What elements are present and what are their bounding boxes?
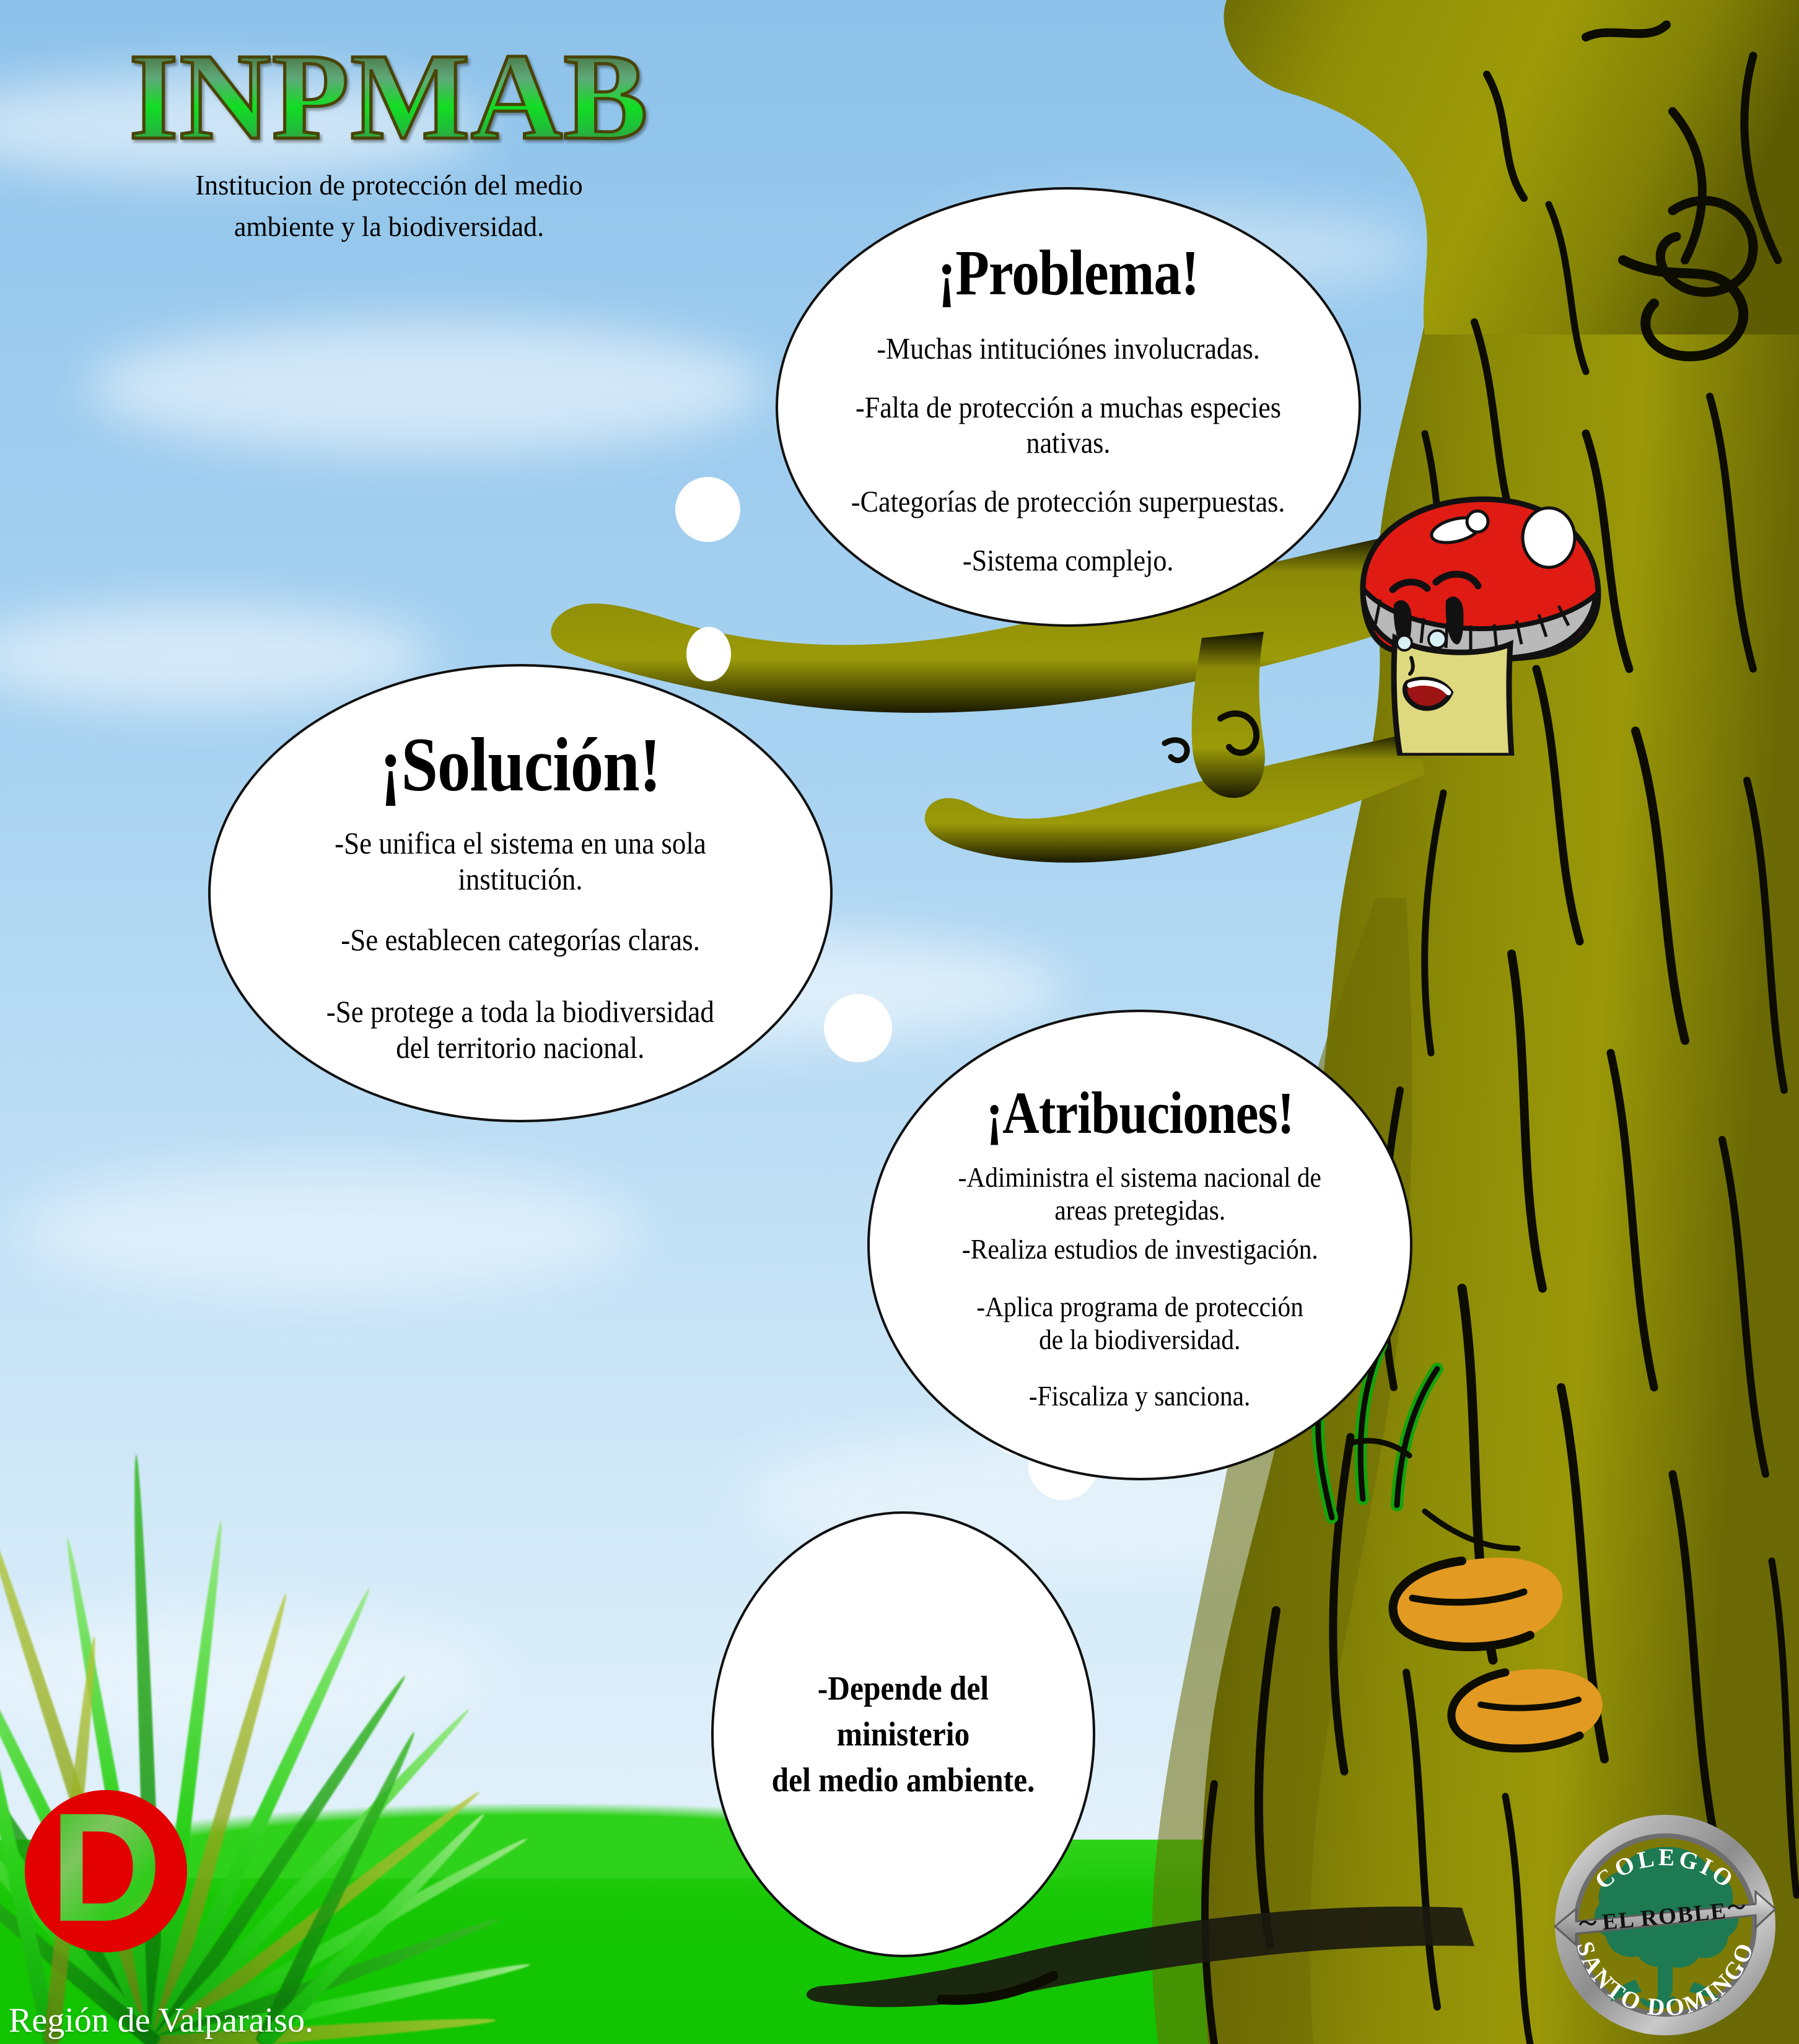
cloud-wisp — [0, 1610, 496, 1734]
seal-banner-flourish-right: 〜 — [1727, 1897, 1747, 1920]
brand-tagline-line2: ambiente y la biodiversidad. — [85, 206, 692, 248]
bubble-atribuciones-line: de la biodiversidad. — [1039, 1323, 1240, 1356]
bubble-problema-line: -Muchas intituciónes involucradas. — [877, 331, 1259, 366]
bubble-problema-heading: ¡Problema! — [938, 236, 1199, 310]
bubble-solucion-line: -Se protege a toda la biodiversidad — [326, 994, 714, 1029]
bubble-solucion-heading: ¡Solución! — [380, 721, 661, 809]
bubble-atribuciones-line: areas pretegidas. — [1054, 1194, 1225, 1226]
brand-tagline-line1: Institucion de protección del medio — [85, 165, 692, 206]
bubble-solucion-line: -Se unifica el sistema en una sola insti… — [278, 825, 764, 897]
brand-header: INPMAB Institucion de protección del med… — [73, 38, 705, 247]
cloud-wisp — [87, 322, 768, 452]
bubble-problema-line: -Sistema complejo. — [963, 543, 1173, 578]
region-badge-letter: D — [50, 1790, 162, 1945]
tree-branch-fork — [1192, 632, 1265, 798]
seal-banner-flourish-left: 〜 — [1578, 1913, 1598, 1936]
bubble-atribuciones-line: -Aplica programa de protección — [976, 1290, 1303, 1323]
region-badge[interactable]: D — [25, 1790, 187, 1952]
bubble-solucion-line: del territorio nacional. — [396, 1029, 644, 1065]
bubble-atribuciones-heading: ¡Atribuciones! — [986, 1078, 1293, 1147]
bubble-problema-line: -Categorías de protección superpuestas. — [851, 484, 1285, 519]
shelf-fungus — [1393, 1558, 1603, 1749]
cloud-wisp — [19, 1164, 638, 1301]
school-seal[interactable]: EL ROBLE 〜 〜 COLEGIO SANTO DOMINGO — [1551, 1811, 1779, 2039]
mushroom-eye-shine — [1397, 635, 1412, 650]
mushroom-character — [1357, 496, 1604, 756]
poster-canvas: ¡Problema! -Muchas intituciónes involucr… — [0, 0, 1799, 2044]
region-label: Región de Valparaiso. — [9, 2001, 313, 2040]
thought-dot — [675, 477, 740, 542]
bubble-atribuciones[interactable]: ¡Atribuciones! -Adiministra el sistema n… — [867, 1010, 1412, 1480]
thought-dot — [824, 994, 892, 1062]
brand-tagline: Institucion de protección del medio ambi… — [85, 165, 692, 247]
bubble-ministerio-line: del medio ambiente. — [772, 1757, 1035, 1803]
thought-dot — [686, 627, 731, 681]
mushroom-spot — [1523, 508, 1575, 567]
bubble-solucion[interactable]: ¡Solución! -Se unifica el sistema en una… — [208, 664, 833, 1122]
bubble-ministerio[interactable]: -Depende del ministerio del medio ambien… — [711, 1511, 1095, 1957]
bubble-solucion-line: -Se establecen categorías claras. — [341, 922, 700, 958]
cloud-wisp — [0, 607, 434, 706]
tree-branch-lower — [925, 731, 1425, 863]
wordmark-inpmab: INPMAB — [67, 38, 711, 156]
bubble-ministerio-line: -Depende del ministerio — [759, 1666, 1047, 1758]
mushroom-eye-shine — [1429, 631, 1446, 648]
bubble-atribuciones-line: -Fiscaliza y sanciona. — [1029, 1379, 1251, 1412]
bubble-problema[interactable]: ¡Problema! -Muchas intituciónes involucr… — [776, 187, 1361, 627]
mushroom-spot — [1467, 511, 1488, 532]
bubble-problema-line: -Falta de protección a muchas especies n… — [847, 390, 1290, 460]
bubble-atribuciones-line: -Adiministra el sistema nacional de — [958, 1161, 1321, 1194]
bubble-atribuciones-line: -Realiza estudios de investigación. — [962, 1233, 1318, 1265]
